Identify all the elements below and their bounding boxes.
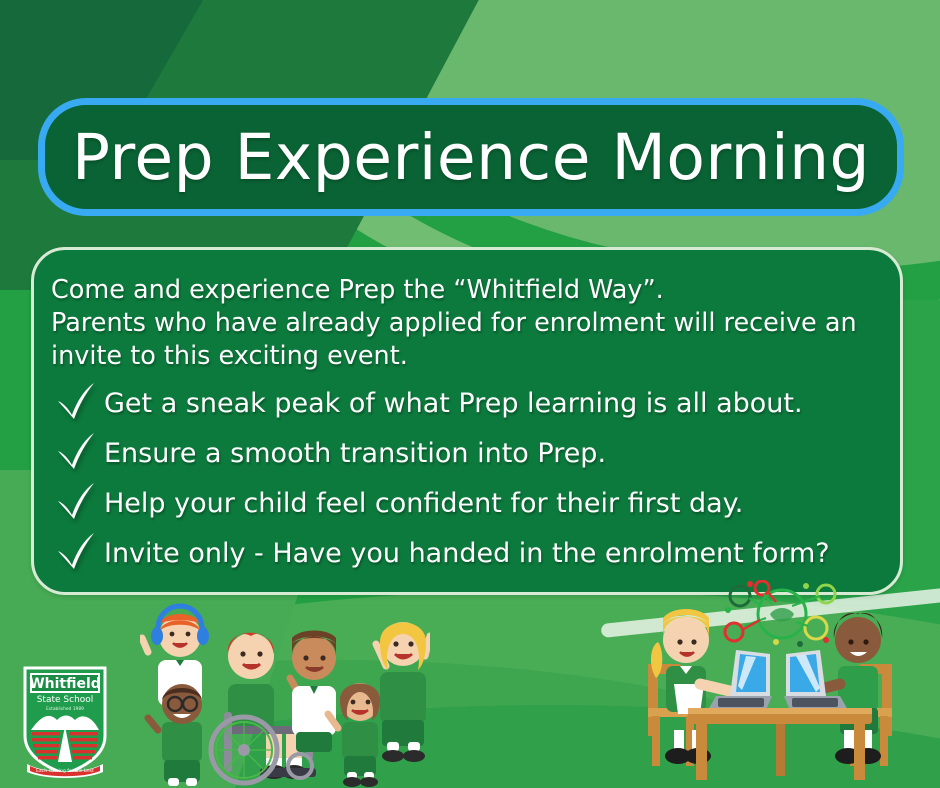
check-icon bbox=[48, 431, 104, 471]
checklist-item: Ensure a smooth transition into Prep. bbox=[48, 428, 908, 478]
intro-line-2: Parents who have already applied for enr… bbox=[51, 307, 889, 340]
check-icon bbox=[48, 381, 104, 421]
svg-text:State School: State School bbox=[37, 695, 94, 705]
illustration-desk-laptops bbox=[630, 580, 940, 788]
poster-canvas: Prep Experience Morning Come and experie… bbox=[0, 0, 940, 788]
kid-white-shirt bbox=[290, 631, 336, 753]
page-title: Prep Experience Morning bbox=[72, 126, 870, 189]
intro-line-3: invite to this exciting event. bbox=[51, 340, 889, 373]
tech-network-graphic bbox=[725, 581, 835, 647]
svg-text:Whitfield: Whitfield bbox=[29, 676, 101, 692]
kid-glasses bbox=[148, 684, 202, 786]
check-icon bbox=[48, 481, 104, 521]
content-panel: Come and experience Prep the “Whitfield … bbox=[31, 247, 903, 595]
intro-line-1: Come and experience Prep the “Whitfield … bbox=[51, 274, 889, 307]
laptop-left bbox=[708, 650, 772, 710]
checklist-item: Invite only - Have you handed in the enr… bbox=[48, 528, 908, 578]
checklist-item-label: Invite only - Have you handed in the enr… bbox=[104, 540, 830, 567]
check-icon bbox=[48, 531, 104, 571]
school-logo: Whitfield State School Established 1989 … bbox=[19, 662, 111, 778]
checklist: Get a sneak peak of what Prep learning i… bbox=[48, 378, 908, 578]
kid-blonde bbox=[376, 622, 430, 762]
illustration-kids-group bbox=[140, 600, 430, 788]
child-left-girl bbox=[651, 609, 734, 764]
checklist-item: Help your child feel confident for their… bbox=[48, 478, 908, 528]
checklist-item: Get a sneak peak of what Prep learning i… bbox=[48, 378, 908, 428]
svg-text:Each striving for the best: Each striving for the best bbox=[36, 768, 94, 774]
checklist-item-label: Get a sneak peak of what Prep learning i… bbox=[104, 390, 803, 417]
title-banner: Prep Experience Morning bbox=[38, 98, 904, 216]
checklist-item-label: Ensure a smooth transition into Prep. bbox=[104, 440, 606, 467]
intro-paragraph: Come and experience Prep the “Whitfield … bbox=[51, 274, 889, 373]
svg-text:Established 1989: Established 1989 bbox=[46, 706, 84, 712]
checklist-item-label: Help your child feel confident for their… bbox=[104, 490, 743, 517]
